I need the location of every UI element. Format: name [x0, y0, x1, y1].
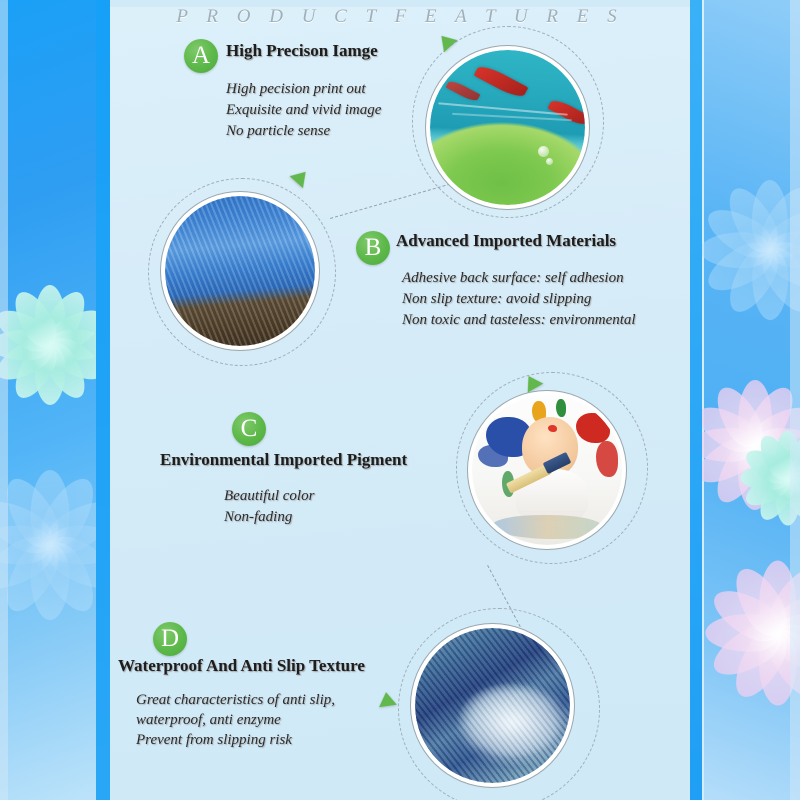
feature-d-line-3: Prevent from slipping risk	[136, 730, 335, 750]
feature-a-line-3: No particle sense	[226, 121, 381, 142]
feature-c-line-2: Non-fading	[224, 507, 314, 528]
panel-left-accent-strip	[96, 0, 110, 800]
decorative-flower-right-top	[700, 180, 800, 320]
product-features-poster: P R O D U C T F E A T U R E S A High Pre…	[0, 0, 800, 800]
feature-photo-d-image	[415, 628, 570, 783]
feature-body-b: Adhesive back surface: self adhesion Non…	[402, 268, 636, 331]
feature-photo-a	[430, 50, 585, 205]
feature-b-line-3: Non toxic and tasteless: environmental	[402, 310, 636, 331]
feature-body-d: Great characteristics of anti slip, wate…	[136, 690, 335, 750]
feature-title-b: Advanced Imported Materials	[396, 231, 616, 251]
page-title: P R O D U C T F E A T U R E S	[110, 6, 690, 28]
feature-badge-b: B	[356, 231, 390, 265]
edge-highlight-left	[0, 0, 8, 800]
panel-right-accent-strip	[690, 0, 702, 800]
feature-photo-b	[165, 196, 315, 346]
feature-title-a: High Precison Iamge	[226, 41, 378, 61]
feature-photo-a-image	[430, 50, 585, 205]
feature-a-line-1: High pecision print out	[226, 79, 381, 100]
feature-photo-c	[472, 395, 622, 545]
feature-c-line-1: Beautiful color	[224, 486, 314, 507]
feature-a-line-2: Exquisite and vivid image	[226, 100, 381, 121]
connector-arrow-d	[377, 691, 397, 707]
decorative-flower-right-bottom	[705, 560, 800, 705]
feature-d-line-1: Great characteristics of anti slip,	[136, 690, 335, 710]
feature-photo-c-image	[472, 395, 622, 545]
feature-badge-a: A	[184, 39, 218, 73]
feature-photo-d	[415, 628, 570, 783]
feature-title-d: Waterproof And Anti Slip Texture	[118, 656, 365, 676]
feature-photo-b-image	[165, 196, 315, 346]
feature-b-line-1: Adhesive back surface: self adhesion	[402, 268, 636, 289]
feature-badge-d: D	[153, 622, 187, 656]
feature-badge-c: C	[232, 412, 266, 446]
decorative-flower-left-top	[0, 285, 110, 405]
feature-body-a: High pecision print out Exquisite and vi…	[226, 79, 381, 142]
feature-body-c: Beautiful color Non-fading	[224, 486, 314, 528]
edge-highlight-right	[790, 0, 800, 800]
feature-b-line-2: Non slip texture: avoid slipping	[402, 289, 636, 310]
feature-d-line-2: waterproof, anti enzyme	[136, 710, 335, 730]
feature-title-c: Environmental Imported Pigment	[160, 450, 407, 470]
